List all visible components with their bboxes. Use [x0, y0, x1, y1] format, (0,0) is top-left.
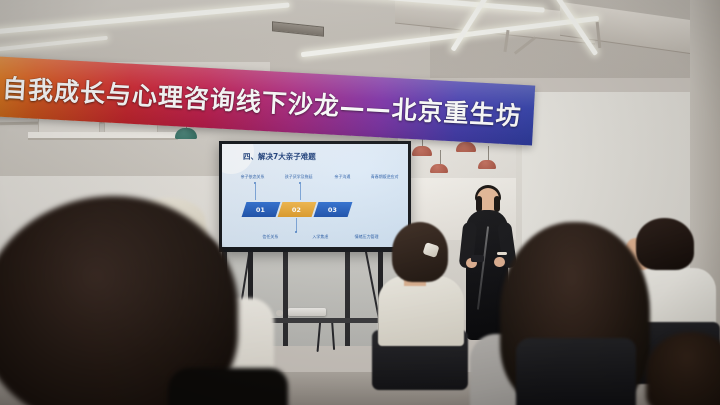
slide-label-top-4: 青春期叛逆应对: [371, 174, 399, 180]
connector-dot: [295, 231, 297, 233]
partition-frame: [345, 244, 350, 346]
audience-body: [378, 276, 464, 346]
partition-frame: [283, 244, 288, 346]
slide-step-2: 02: [278, 202, 317, 217]
foreground-dark-shape: [168, 368, 288, 405]
connector-line: [255, 184, 256, 200]
connector-dot: [254, 182, 256, 184]
slide-title: 四、解决7大亲子难题: [243, 151, 316, 162]
slide-content: 四、解决7大亲子难题 亲子依恋关系 孩子厌学及拖延 亲子沟通 青春期叛逆应对 0…: [222, 144, 408, 247]
pendant-cord: [440, 150, 441, 164]
presentation-screen[interactable]: 四、解决7大亲子难题 亲子依恋关系 孩子厌学及拖延 亲子沟通 青春期叛逆应对 0…: [219, 141, 411, 252]
chair: [516, 338, 636, 405]
photo-scene: 自我成长与心理咨询线下沙龙——北京重生坊 四、解决7大亲子难题 亲子依恋关系 孩…: [0, 0, 720, 405]
media-device: [288, 308, 326, 316]
slide-step-3: 03: [314, 202, 353, 217]
presenter-hand-right: [494, 257, 505, 267]
counter: [28, 132, 178, 140]
presenter-phone: [471, 255, 484, 262]
pendant-lamp-icon: [412, 146, 432, 156]
audience-hair: [392, 222, 448, 282]
slide-label-bottom-2: 入学焦虑: [312, 234, 328, 240]
pendant-cord: [488, 146, 489, 160]
pendant-lamp-icon: [478, 160, 496, 169]
slide-label-bottom-1: 信任关系: [262, 234, 278, 240]
connector-line: [296, 218, 297, 232]
slide-step-1: 01: [242, 202, 281, 217]
slide-step-3-number: 03: [328, 206, 337, 214]
connector-line: [300, 184, 301, 200]
pendant-lamp-icon: [456, 142, 476, 152]
presenter-bracelet: [497, 252, 507, 255]
pendant-lamp-icon: [175, 128, 197, 139]
slide-step-1-number: 01: [256, 206, 265, 214]
slide-label-top-1: 亲子依恋关系: [241, 174, 265, 180]
connector-dot: [299, 182, 301, 184]
audience-hair: [636, 218, 694, 270]
presenter-hair-side: [494, 196, 500, 212]
slide-label-top-2: 孩子厌学及拖延: [285, 174, 313, 180]
slide-label-bottom-3: 情绪压力管理: [355, 234, 379, 240]
slide-step-2-number: 02: [292, 206, 301, 214]
slide-label-top-3: 亲子沟通: [334, 174, 350, 180]
cable-connector: [276, 310, 283, 316]
pendant-lamp-icon: [430, 164, 448, 173]
